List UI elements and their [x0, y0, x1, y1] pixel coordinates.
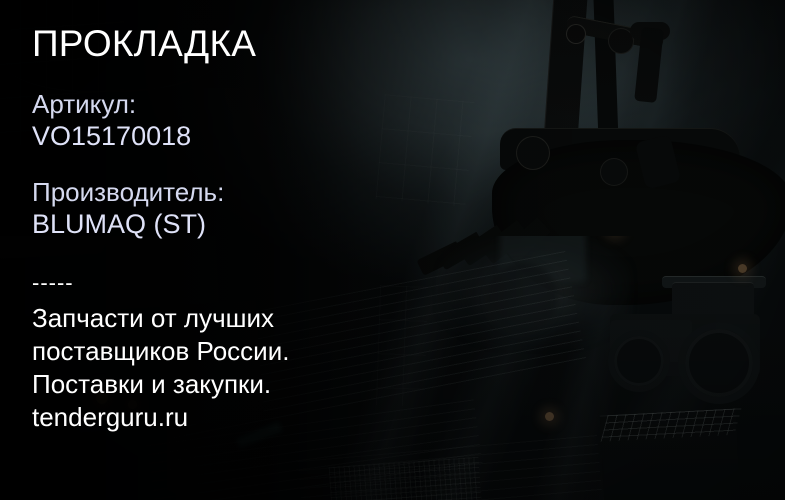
field-manufacturer-label: Производитель: [32, 176, 224, 208]
promo-line-2: поставщиков России. [32, 335, 289, 368]
promo-line-3: Поставки и закупки. [32, 368, 289, 401]
site-url[interactable]: tenderguru.ru [32, 401, 289, 434]
promo-line-1: Запчасти от лучших [32, 302, 289, 335]
product-title: ПРОКЛАДКА [32, 24, 256, 64]
product-card-banner: ПРОКЛАДКА Артикул: VO15170018 Производит… [0, 0, 785, 500]
field-article-label: Артикул: [32, 88, 191, 120]
field-manufacturer: Производитель: BLUMAQ (ST) [32, 176, 224, 240]
field-manufacturer-value: BLUMAQ (ST) [32, 208, 224, 240]
section-divider: ----- [32, 272, 74, 294]
card-content: ПРОКЛАДКА Артикул: VO15170018 Производит… [32, 0, 452, 500]
field-article-value: VO15170018 [32, 120, 191, 152]
field-article: Артикул: VO15170018 [32, 88, 191, 152]
promo-block: Запчасти от лучших поставщиков России. П… [32, 302, 289, 434]
